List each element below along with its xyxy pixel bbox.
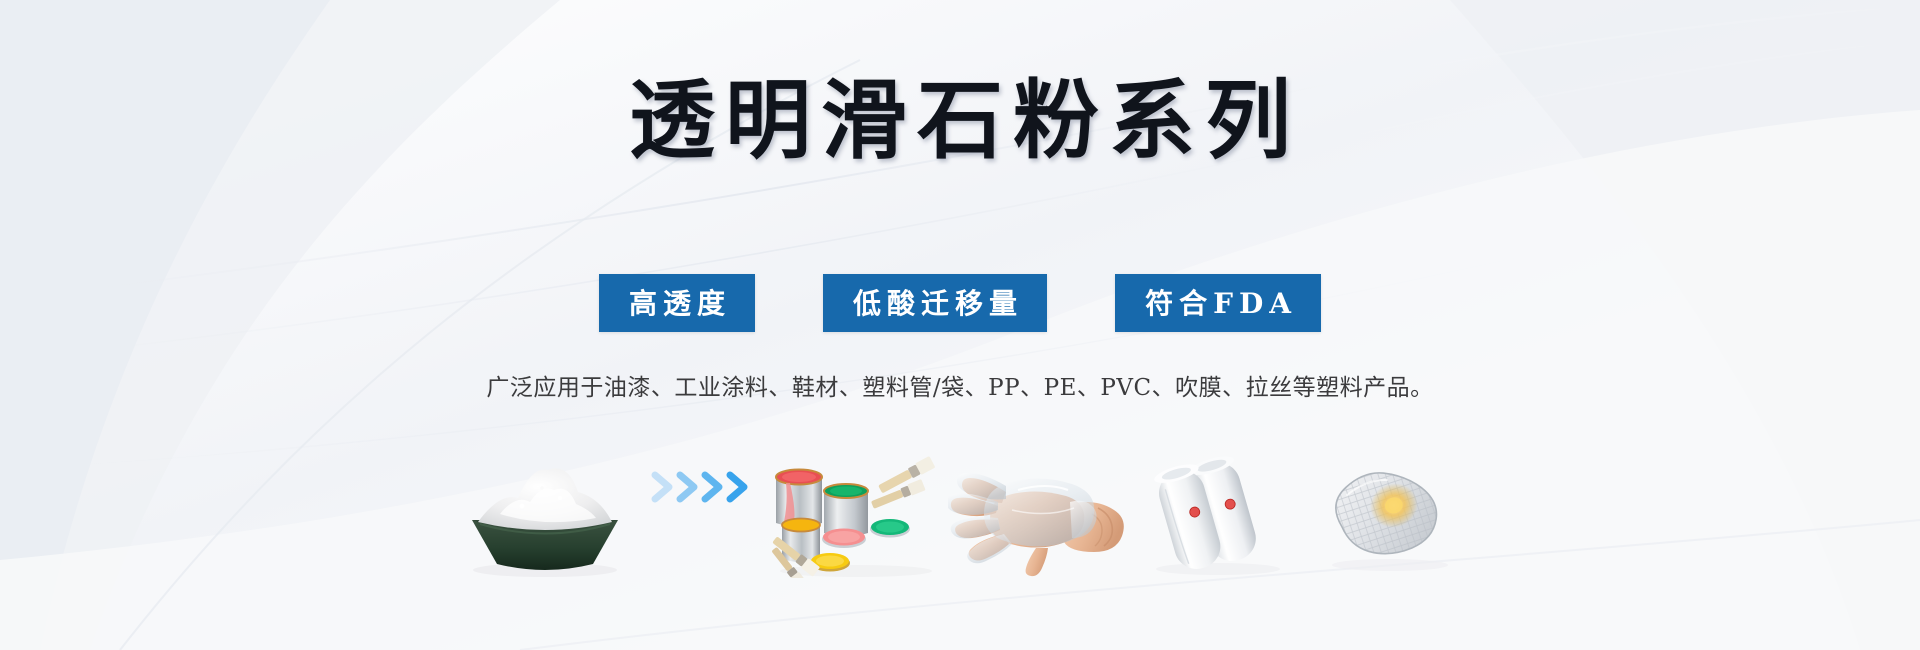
feature-badge-fda-compliant[interactable]: 符合FDA	[1115, 274, 1321, 332]
talc-powder-bowl-icon	[450, 458, 640, 578]
product-plastic-glove	[945, 438, 1135, 578]
product-paint-cans	[765, 438, 945, 578]
paint-cans-brushes-icon	[768, 453, 943, 578]
product-talc-powder-bowl	[445, 438, 645, 578]
plastic-film-rolls-icon	[1140, 453, 1300, 578]
feature-badge-transparency[interactable]: 高透度	[599, 274, 755, 332]
page-title: 透明滑石粉系列	[0, 78, 1920, 164]
application-description: 广泛应用于油漆、工业涂料、鞋材、塑料管/袋、PP、PE、PVC、吹膜、拉丝等塑料…	[0, 368, 1920, 402]
product-banner: 透明滑石粉系列 高透度 低酸迁移量 符合FDA 广泛应用于油漆、工业涂料、鞋材、…	[0, 0, 1920, 650]
product-shoe-insole	[1305, 438, 1475, 578]
plastic-glove-hand-icon	[948, 458, 1133, 578]
shoe-insole-icon	[1310, 453, 1470, 578]
product-plastic-film-rolls	[1135, 438, 1305, 578]
process-arrow-group	[645, 438, 765, 578]
chevron-arrows-icon	[649, 467, 761, 507]
feature-badge-low-acid-migration[interactable]: 低酸迁移量	[823, 274, 1047, 332]
feature-badge-row: 高透度 低酸迁移量 符合FDA	[0, 274, 1920, 332]
product-illustration-strip	[0, 438, 1920, 578]
